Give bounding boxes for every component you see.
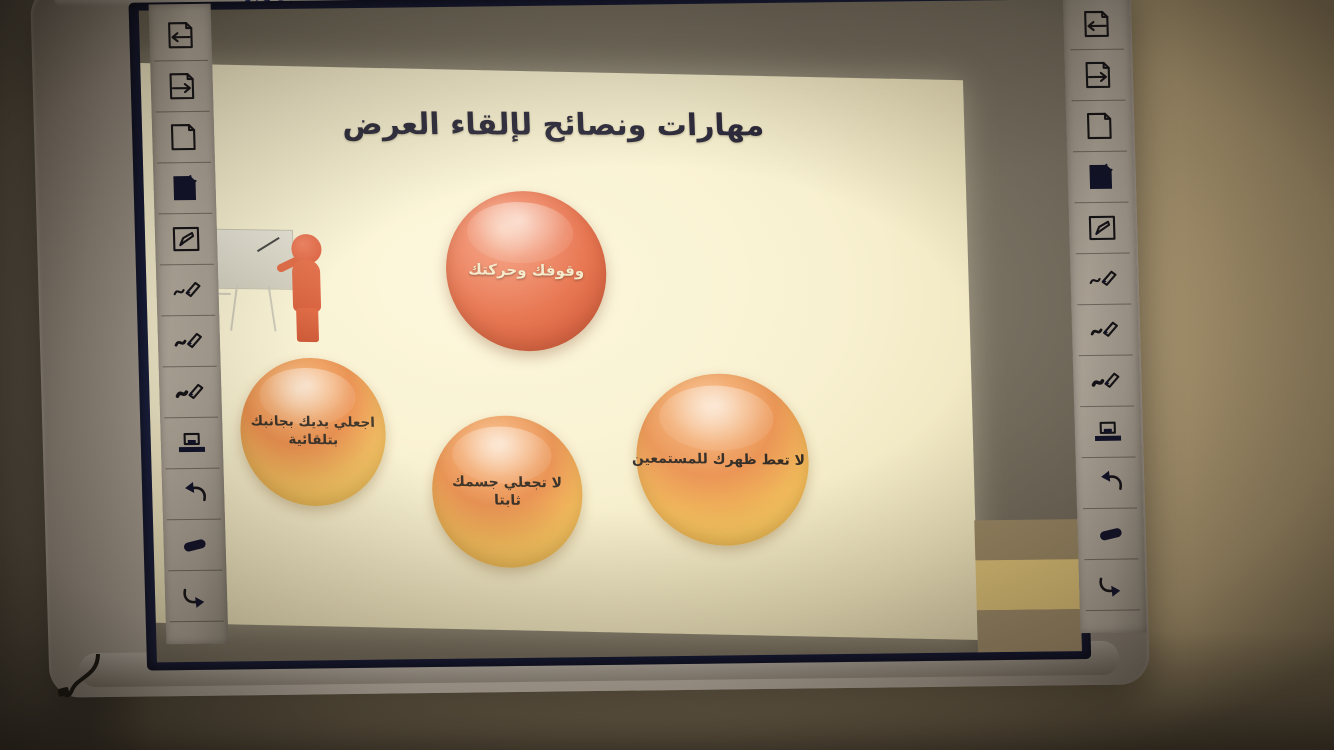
- toolbar-right-eraser[interactable]: [1083, 508, 1138, 560]
- presenter-clipart: [202, 215, 346, 357]
- bubble-top-label: وقوفك وحركتك: [462, 260, 590, 282]
- slide-title-text: مهارات ونصائح لإلقاء العرض: [341, 107, 764, 143]
- color-band-3: [977, 609, 1082, 652]
- desktop-color-bands: [974, 519, 1082, 652]
- toolbar-left-black-page[interactable]: [157, 163, 212, 215]
- easel-leg-left-icon: [230, 285, 238, 331]
- toolbar-right-pen-thin[interactable]: [1076, 254, 1131, 306]
- whiteboard: QOMO INTERACTIVE مهارات ونصائح لإلقاء ال…: [30, 0, 1156, 726]
- toolbar-right-pen-select[interactable]: [1074, 203, 1129, 255]
- color-band-2: [975, 559, 1080, 610]
- toolbar-right-pen-medium[interactable]: [1077, 305, 1132, 357]
- easel-leg-right-icon: [268, 286, 277, 332]
- toolbar-right-undo[interactable]: [1082, 457, 1137, 509]
- toolbar-right-black-page[interactable]: [1073, 152, 1128, 204]
- slide-title: مهارات ونصائح لإلقاء العرض: [141, 106, 965, 144]
- toolbar-left-next-page[interactable]: [154, 61, 209, 113]
- bubble-left-label: اجعلي يديك بجانبك بتلقائية: [240, 413, 386, 451]
- toolbar-left-new-page[interactable]: [156, 112, 211, 164]
- pen-tether-cable: [58, 654, 110, 702]
- color-band-1: [974, 519, 1079, 560]
- toolbar-left-pen-select[interactable]: [158, 214, 213, 266]
- bubble-top[interactable]: وقوفك وحركتك: [444, 190, 609, 352]
- toolbar-left-keyboard[interactable]: [164, 418, 219, 470]
- whiteboard-scene: QOMO INTERACTIVE مهارات ونصائح لإلقاء ال…: [0, 0, 1334, 750]
- toolbar-right-keyboard[interactable]: [1080, 406, 1135, 458]
- toolbar-left-undo[interactable]: [166, 469, 221, 521]
- toolbar-left-pen-thick[interactable]: [163, 367, 218, 419]
- toolbar-left-previous-page[interactable]: [153, 10, 208, 62]
- easel-board-icon: [215, 229, 295, 290]
- bubble-middle[interactable]: لا تجعلي جسمك ثابتا: [430, 415, 584, 569]
- bubble-middle-label: لا تجعلي جسمك ثابتا: [432, 472, 583, 511]
- toolbar-right-new-page[interactable]: [1072, 101, 1127, 153]
- toolbar-left-redo[interactable]: [168, 571, 223, 623]
- toolbar-left-eraser[interactable]: [167, 520, 222, 572]
- bubble-left[interactable]: اجعلي يديك بجانبك بتلقائية: [238, 357, 387, 507]
- presenter-legs-icon: [296, 308, 319, 342]
- presenter-body-icon: [292, 260, 321, 312]
- bubble-right-label: لا تعط ظهرك للمستمعين: [626, 449, 812, 470]
- projection-screen[interactable]: مهارات ونصائح لإلقاء العرض: [139, 0, 1082, 662]
- bubble-right[interactable]: لا تعط ظهرك للمستمعين: [634, 373, 811, 547]
- toolbar-right-redo[interactable]: [1084, 559, 1139, 611]
- toolbar-left-pen-thin[interactable]: [160, 265, 215, 317]
- powerpoint-slide[interactable]: مهارات ونصائح لإلقاء العرض: [140, 63, 978, 640]
- toolbar-right-previous-page[interactable]: [1069, 0, 1124, 50]
- toolbar-left-pen-medium[interactable]: [161, 316, 216, 368]
- toolbar-right-next-page[interactable]: [1070, 50, 1125, 102]
- toolbar-right-pen-thick[interactable]: [1079, 356, 1134, 408]
